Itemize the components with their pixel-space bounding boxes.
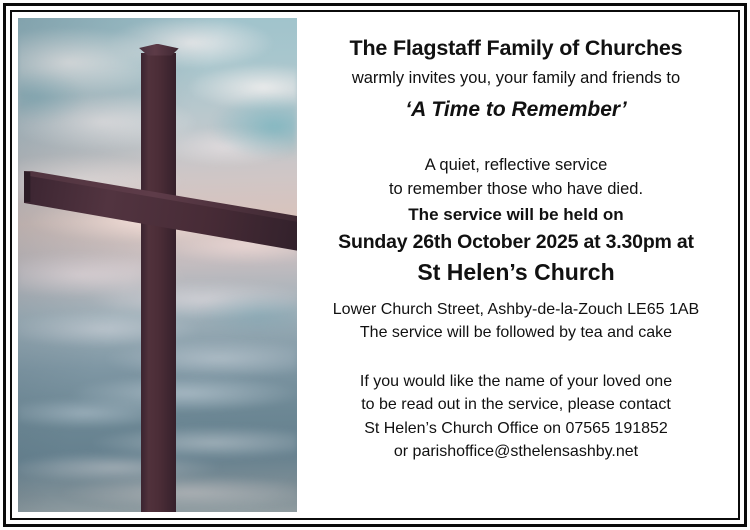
contact-email: or parishoffice@sthelensashby.net: [308, 442, 724, 461]
service-datetime: Sunday 26th October 2025 at 3.30pm at: [308, 231, 724, 254]
invitation-subtitle: warmly invites you, your family and frie…: [308, 69, 724, 89]
poster-text-column: The Flagstaff Family of Churches warmly …: [302, 15, 730, 515]
service-held-on-label: The service will be held on: [308, 205, 724, 225]
contact-line-2: to be read out in the service, please co…: [308, 395, 724, 414]
organisation-heading: The Flagstaff Family of Churches: [308, 36, 724, 62]
service-description-line-2: to remember those who have died.: [308, 180, 724, 200]
location-block: Lower Church Street, Ashby-de-la-Zouch L…: [308, 300, 724, 342]
photo-vignette: [18, 18, 297, 512]
contact-phone: St Helen’s Church Office on 07565 191852: [308, 419, 724, 438]
service-venue: St Helen’s Church: [308, 259, 724, 287]
refreshments-note: The service will be followed by tea and …: [308, 323, 724, 342]
cross-photo-container: [15, 15, 300, 515]
invitation-block: The Flagstaff Family of Churches warmly …: [308, 36, 724, 122]
service-details-block: A quiet, reflective service to remember …: [308, 156, 724, 287]
event-title: ‘A Time to Remember’: [308, 97, 724, 122]
contact-block: If you would like the name of your loved…: [308, 372, 724, 461]
cross-photo: [18, 18, 297, 512]
venue-address: Lower Church Street, Ashby-de-la-Zouch L…: [308, 300, 724, 319]
contact-line-1: If you would like the name of your loved…: [308, 372, 724, 391]
poster-flyer: The Flagstaff Family of Churches warmly …: [0, 0, 750, 530]
service-description-line-1: A quiet, reflective service: [308, 156, 724, 176]
